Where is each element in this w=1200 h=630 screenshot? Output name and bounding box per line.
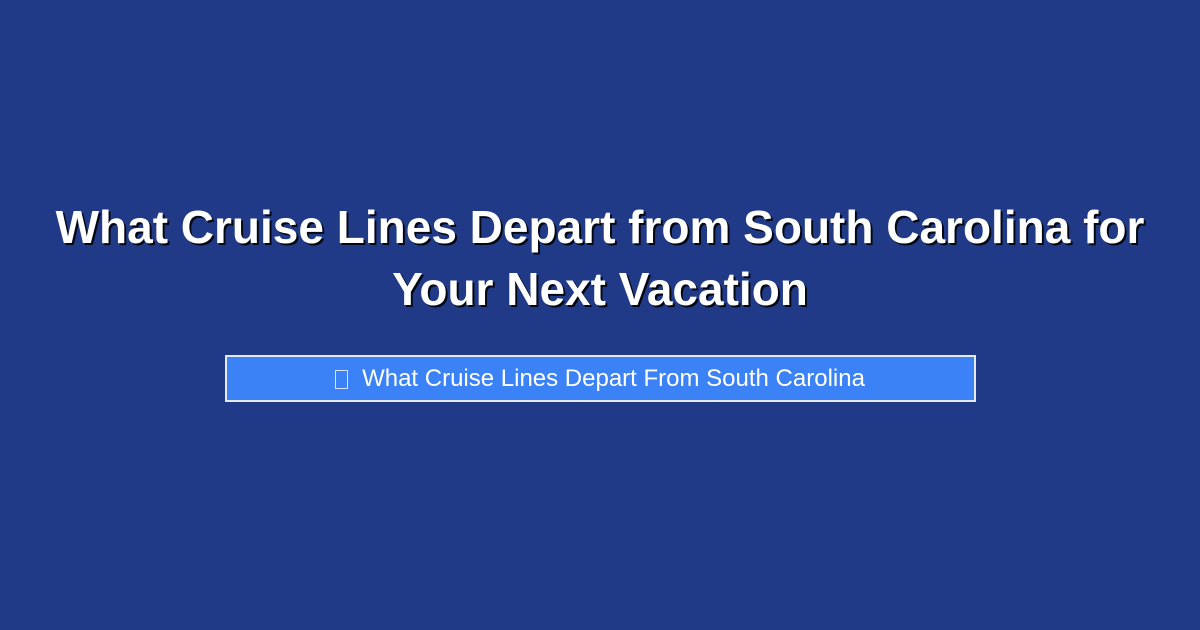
page-title: What Cruise Lines Depart from South Caro… <box>0 196 1200 320</box>
topic-chip-label: What Cruise Lines Depart From South Caro… <box>362 365 865 393</box>
headline-container: What Cruise Lines Depart from South Caro… <box>0 0 1200 320</box>
social-share-card: What Cruise Lines Depart from South Caro… <box>0 0 1200 630</box>
topic-chip-button[interactable]: What Cruise Lines Depart From South Caro… <box>225 355 976 402</box>
chip-container: What Cruise Lines Depart From South Caro… <box>0 355 1200 402</box>
missing-glyph-box-icon <box>335 370 348 389</box>
